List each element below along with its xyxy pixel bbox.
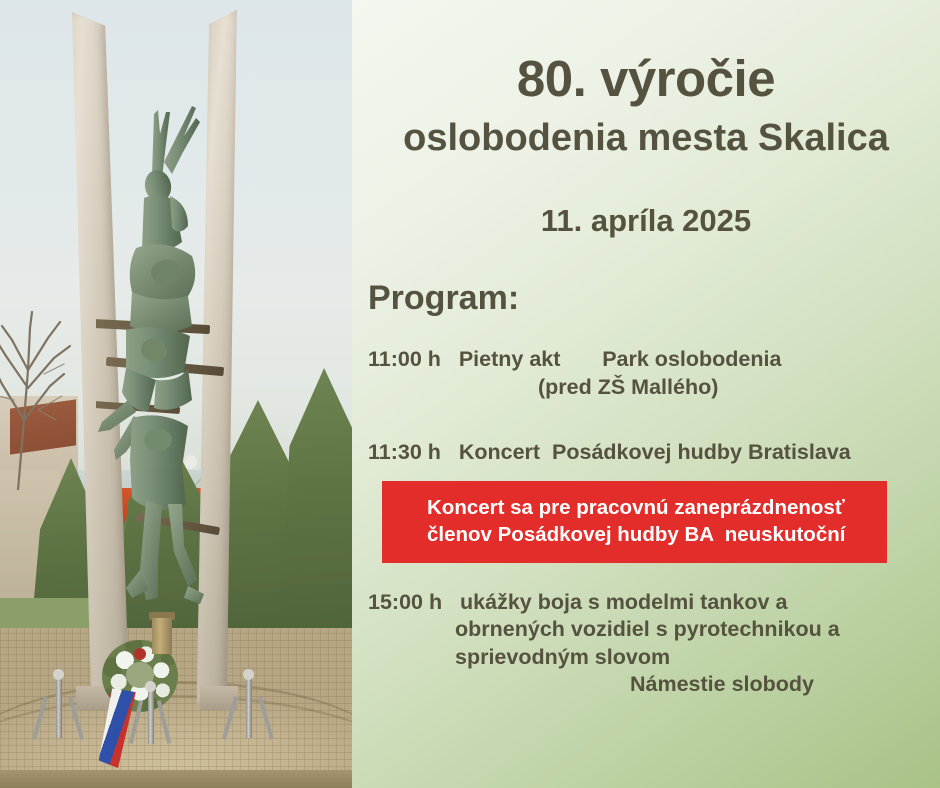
bollard-cap xyxy=(145,681,156,692)
memorial-urn xyxy=(152,618,172,654)
memorial-photo xyxy=(0,0,352,788)
wreath-red-flower xyxy=(134,648,146,660)
program-entry-line: obrnených vozidiel s pyrotechnikou a xyxy=(368,616,940,644)
program-entry-line: 15:00 h ukážky boja s modelmi tankov a xyxy=(368,589,940,617)
program-entry-line: (pred ZŠ Mallého) xyxy=(368,374,940,402)
program-entry-line: 11:30 h Koncert Posádkovej hudby Bratisl… xyxy=(368,439,940,467)
bollard-cap xyxy=(243,669,254,680)
program-entry-1100: 11:00 h Pietny akt Park oslobodenia (pre… xyxy=(368,346,940,401)
cancellation-notice-line: Koncert sa pre pracovnú zaneprázdnenosť xyxy=(427,494,887,521)
page-subtitle: oslobodenia mesta Skalica xyxy=(352,106,940,160)
cancellation-notice-line: členov Posádkovej hudby BA neuskutoční xyxy=(427,521,887,548)
program-entry-line: sprievodným slovom xyxy=(368,644,940,672)
cancellation-notice: Koncert sa pre pracovnú zaneprázdnenosť … xyxy=(382,481,887,563)
bollard-post xyxy=(246,676,252,738)
program-entry-1130: 11:30 h Koncert Posádkovej hudby Bratisl… xyxy=(368,439,940,467)
bollard-post xyxy=(148,688,154,744)
event-date: 11. apríla 2025 xyxy=(352,159,940,239)
page-title: 80. výročie xyxy=(352,0,940,106)
event-poster: 80. výročie oslobodenia mesta Skalica 11… xyxy=(0,0,940,788)
info-panel: 80. výročie oslobodenia mesta Skalica 11… xyxy=(352,0,940,788)
bollard-cap xyxy=(53,669,64,680)
program-entry-1500: 15:00 h ukážky boja s modelmi tankov a o… xyxy=(368,589,940,699)
program-entry-line: Námestie slobody xyxy=(368,671,940,699)
cobblestone-plaza xyxy=(0,628,352,788)
program-entry-line: 11:00 h Pietny akt Park oslobodenia xyxy=(368,346,940,374)
program-heading: Program: xyxy=(352,239,940,318)
bollard-post xyxy=(56,676,62,738)
program-entries: 11:00 h Pietny akt Park oslobodenia (pre… xyxy=(352,346,940,699)
plaza-edge xyxy=(0,770,352,788)
bronze-sculpture xyxy=(96,100,226,620)
